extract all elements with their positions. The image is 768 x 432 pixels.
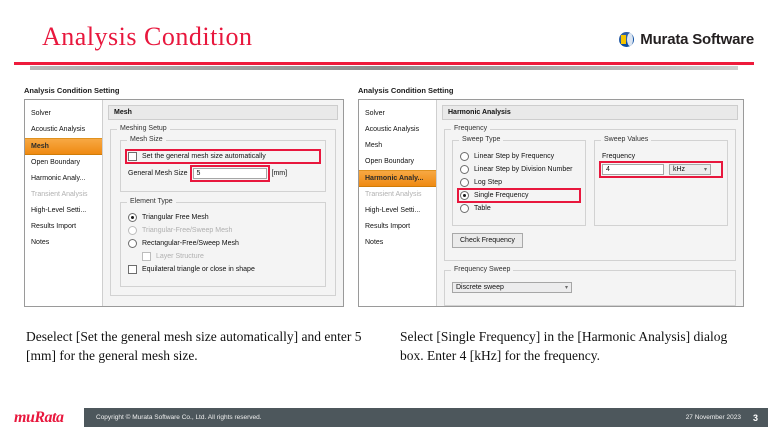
check-frequency-row[interactable]: Check Frequency xyxy=(452,233,728,248)
element-type-legend: Element Type xyxy=(127,198,176,205)
page-number: 3 xyxy=(753,413,758,423)
log-step-radio[interactable] xyxy=(460,178,469,187)
sidebar-item-results-import[interactable]: Results Import xyxy=(25,219,102,235)
frequency-sweep-group: Frequency Sweep Discrete sweep ▾ xyxy=(444,270,736,306)
single-frequency-label: Single Frequency xyxy=(474,192,528,199)
sidebar-item-acoustic-analysis[interactable]: Acoustic Analysis xyxy=(359,122,436,138)
equilateral-triangle-checkbox[interactable] xyxy=(128,265,137,274)
sweep-option-table[interactable]: Table xyxy=(460,204,578,213)
linear-step-by-division-number-label: Linear Step by Division Number xyxy=(474,166,572,173)
element-option-triangular-free[interactable]: Triangular Free Mesh xyxy=(128,213,318,222)
right-dialog-caption: Analysis Condition Setting xyxy=(358,86,744,95)
header-grey-rule xyxy=(30,66,738,70)
footer-bar: Copyright © Murata Software Co., Ltd. Al… xyxy=(84,408,768,427)
tab-mesh: Mesh xyxy=(108,105,338,120)
linear-step-by-frequency-radio[interactable] xyxy=(460,152,469,161)
general-mesh-size-label: General Mesh Size xyxy=(128,170,188,177)
header-red-rule xyxy=(14,62,754,65)
right-screenshot: Analysis Condition Setting Solver Acoust… xyxy=(358,86,744,307)
sweep-values-group: Sweep Values Frequency 4 kHz ▾ xyxy=(594,140,728,226)
sweep-option-linear-step-division[interactable]: Linear Step by Division Number xyxy=(460,165,578,174)
frequency-unit-value: kHz xyxy=(673,166,685,173)
right-dialog-sidebar: Solver Acoustic Analysis Mesh Open Bound… xyxy=(359,100,437,306)
triangular-free-mesh-radio[interactable] xyxy=(128,213,137,222)
sweep-option-single-frequency[interactable]: Single Frequency xyxy=(460,191,578,200)
triangular-free-sweep-mesh-radio xyxy=(128,226,137,235)
frequency-sweep-row[interactable]: Discrete sweep ▾ xyxy=(452,282,728,293)
frequency-sweep-legend: Frequency Sweep xyxy=(451,266,513,273)
left-dialog-caption: Analysis Condition Setting xyxy=(24,86,344,95)
sidebar-item-harmonic-analysis[interactable]: Harmonic Analy... xyxy=(359,170,436,187)
general-mesh-size-unit: [mm] xyxy=(272,170,288,177)
sweep-option-log-step[interactable]: Log Step xyxy=(460,178,578,187)
frequency-value-row[interactable]: 4 kHz ▾ xyxy=(602,164,720,175)
frequency-sweep-value: Discrete sweep xyxy=(456,284,504,291)
rectangular-free-sweep-mesh-radio[interactable] xyxy=(128,239,137,248)
sweep-type-group: Sweep Type Linear Step by Frequency Line… xyxy=(452,140,586,226)
sidebar-item-high-level-settings[interactable]: High-Level Setti... xyxy=(359,203,436,219)
log-step-label: Log Step xyxy=(474,179,502,186)
sidebar-item-harmonic-analysis[interactable]: Harmonic Analy... xyxy=(25,171,102,187)
chevron-down-icon: ▾ xyxy=(565,284,568,291)
globe-icon xyxy=(619,32,634,47)
sidebar-item-acoustic-analysis[interactable]: Acoustic Analysis xyxy=(25,122,102,138)
element-option-triangular-sweep: Triangular-Free/Sweep Mesh xyxy=(128,226,318,235)
page-title: Analysis Condition xyxy=(42,22,253,52)
triangular-free-sweep-mesh-label: Triangular-Free/Sweep Mesh xyxy=(142,227,232,234)
auto-mesh-size-checkbox[interactable] xyxy=(128,152,137,161)
linear-step-by-division-number-radio[interactable] xyxy=(460,165,469,174)
analysis-condition-dialog-mesh: Solver Acoustic Analysis Mesh Open Bound… xyxy=(24,99,344,307)
equilateral-row[interactable]: Equilateral triangle or close in shape xyxy=(128,265,318,274)
sweep-values-legend: Sweep Values xyxy=(601,136,651,143)
table-label: Table xyxy=(474,205,491,212)
tab-harmonic-analysis: Harmonic Analysis xyxy=(442,105,738,120)
sidebar-item-transient-analysis: Transient Analysis xyxy=(25,187,102,203)
triangular-free-mesh-label: Triangular Free Mesh xyxy=(142,214,209,221)
sidebar-item-notes[interactable]: Notes xyxy=(25,235,102,251)
sidebar-item-results-import[interactable]: Results Import xyxy=(359,219,436,235)
mesh-size-group: Mesh Size Set the general mesh size auto… xyxy=(120,140,326,192)
frequency-group: Frequency Sweep Type Linear Step by Freq… xyxy=(444,129,736,261)
left-dialog-content: Mesh Meshing Setup Mesh Size Set the gen… xyxy=(103,100,343,306)
general-mesh-size-input[interactable]: 5 xyxy=(193,168,267,179)
rectangular-free-sweep-mesh-label: Rectangular-Free/Sweep Mesh xyxy=(142,240,239,247)
right-dialog-content: Harmonic Analysis Frequency Sweep Type L… xyxy=(437,100,743,306)
auto-mesh-size-row[interactable]: Set the general mesh size automatically xyxy=(128,152,318,161)
frequency-sweep-select[interactable]: Discrete sweep ▾ xyxy=(452,282,572,293)
linear-step-by-frequency-label: Linear Step by Frequency xyxy=(474,153,554,160)
table-radio[interactable] xyxy=(460,204,469,213)
chevron-down-icon: ▾ xyxy=(704,166,707,173)
frequency-unit-select[interactable]: kHz ▾ xyxy=(669,164,711,175)
meshing-setup-legend: Meshing Setup xyxy=(117,125,170,132)
right-caption-text: Select [Single Frequency] in the [Harmon… xyxy=(400,328,750,365)
footer-date: 27 November 2023 xyxy=(686,414,741,421)
left-screenshot: Analysis Condition Setting Solver Acoust… xyxy=(24,86,344,307)
layer-structure-label: Layer Structure xyxy=(156,253,204,260)
analysis-condition-dialog-harmonic: Solver Acoustic Analysis Mesh Open Bound… xyxy=(358,99,744,307)
auto-mesh-size-label: Set the general mesh size automatically xyxy=(142,153,266,160)
murata-footer-logo: muRata xyxy=(14,409,63,427)
sidebar-item-mesh[interactable]: Mesh xyxy=(359,138,436,154)
frequency-field-label: Frequency xyxy=(602,153,635,160)
general-mesh-size-row: General Mesh Size 5 [mm] xyxy=(128,168,318,179)
sweep-type-legend: Sweep Type xyxy=(459,136,503,143)
sidebar-item-solver[interactable]: Solver xyxy=(25,106,102,122)
sidebar-item-open-boundary[interactable]: Open Boundary xyxy=(359,154,436,170)
sweep-option-linear-step-frequency[interactable]: Linear Step by Frequency xyxy=(460,152,578,161)
layer-structure-row: Layer Structure xyxy=(128,252,318,261)
sidebar-item-solver[interactable]: Solver xyxy=(359,106,436,122)
brand-name: Murata Software xyxy=(640,31,754,48)
equilateral-triangle-label: Equilateral triangle or close in shape xyxy=(142,266,255,273)
sidebar-item-high-level-settings[interactable]: High-Level Setti... xyxy=(25,203,102,219)
frequency-legend: Frequency xyxy=(451,125,490,132)
frequency-input[interactable]: 4 xyxy=(602,164,664,175)
sidebar-item-notes[interactable]: Notes xyxy=(359,235,436,251)
left-caption-text: Deselect [Set the general mesh size auto… xyxy=(26,328,366,365)
single-frequency-radio[interactable] xyxy=(460,191,469,200)
meshing-setup-group: Meshing Setup Mesh Size Set the general … xyxy=(110,129,336,296)
layer-structure-checkbox xyxy=(142,252,151,261)
mesh-size-legend: Mesh Size xyxy=(127,136,166,143)
check-frequency-button[interactable]: Check Frequency xyxy=(452,233,523,248)
left-dialog-sidebar: Solver Acoustic Analysis Mesh Open Bound… xyxy=(25,100,103,306)
sidebar-item-transient-analysis: Transient Analysis xyxy=(359,187,436,203)
element-type-group: Element Type Triangular Free Mesh Triang… xyxy=(120,202,326,287)
frequency-field-label-row: Frequency xyxy=(602,153,720,160)
sidebar-item-open-boundary[interactable]: Open Boundary xyxy=(25,155,102,171)
brand-logo: Murata Software xyxy=(619,31,754,48)
element-option-rectangular-sweep[interactable]: Rectangular-Free/Sweep Mesh xyxy=(128,239,318,248)
sidebar-item-mesh[interactable]: Mesh xyxy=(25,138,102,155)
copyright-text: Copyright © Murata Software Co., Ltd. Al… xyxy=(96,414,686,421)
